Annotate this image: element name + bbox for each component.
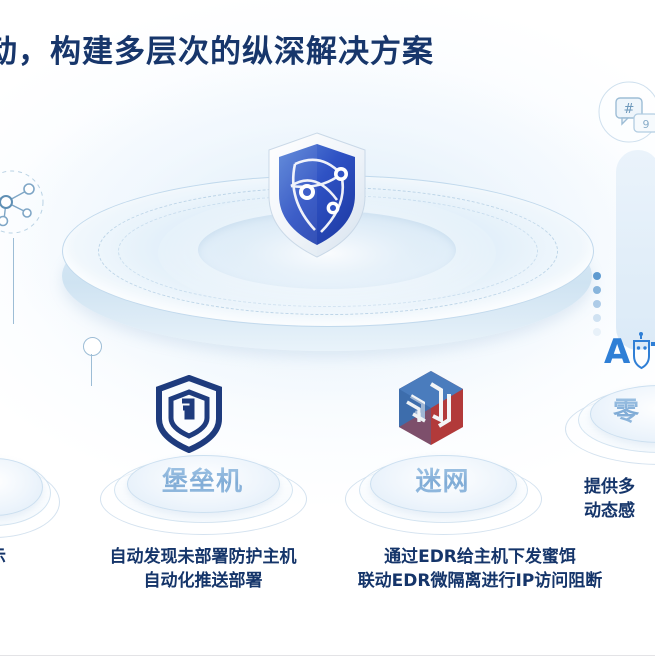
pad-label-zero-trust: 零 — [613, 391, 640, 428]
caption-left-partial: 提示 — [0, 545, 44, 569]
network-node-stem — [13, 238, 14, 324]
honeynet-cube-icon[interactable] — [393, 368, 469, 448]
caption-line-1: 提供多 — [584, 475, 655, 499]
map-pin-stem — [91, 354, 92, 386]
pad-left-partial[interactable] — [0, 458, 58, 538]
bastion-shield-icon[interactable] — [155, 375, 223, 453]
right-capsule-shape — [616, 150, 655, 350]
pad-zero-trust[interactable]: 零 — [565, 385, 655, 467]
caption-line-2: 动态感 — [584, 499, 655, 523]
fading-dot-column — [593, 272, 601, 342]
caption-line-1: 提示 — [0, 545, 44, 569]
shield-network-icon — [265, 130, 370, 260]
caption-line-1: 通过EDR给主机下发蜜饵 — [305, 545, 655, 569]
ai-label: A — [604, 332, 630, 372]
pad-honeynet[interactable]: 迷网 — [345, 455, 540, 537]
caption-line-2: 联动EDR微隔离进行IP访问阻断 — [305, 569, 655, 593]
pad-label-bastion: 堡垒机 — [100, 461, 305, 498]
svg-text:#: # — [624, 102, 635, 117]
caption-honeynet: 通过EDR给主机下发蜜饵 联动EDR微隔离进行IP访问阻断 — [305, 545, 655, 593]
pad-bastion[interactable]: 堡垒机 — [100, 455, 305, 537]
svg-text:9: 9 — [643, 118, 650, 131]
robot-head-icon — [630, 332, 655, 370]
slide-canvas: 动，构建多层次的纵深解决方案 # 9 — [0, 0, 655, 656]
network-node-icon — [0, 168, 58, 244]
chat-bubble-icon: # 9 — [596, 76, 655, 154]
page-title: 动，构建多层次的纵深解决方案 — [0, 26, 434, 71]
pad-label-honeynet: 迷网 — [345, 461, 540, 498]
map-pin-marker — [83, 337, 102, 356]
caption-zero-trust: 提供多 动态感 — [584, 475, 655, 523]
